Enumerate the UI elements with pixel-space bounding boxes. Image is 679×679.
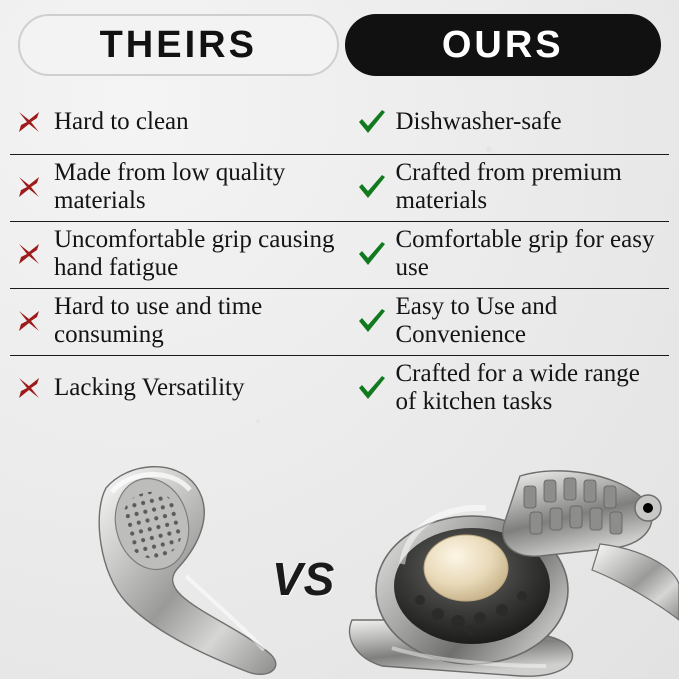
vs-label: VS xyxy=(272,552,335,606)
cell-text: Crafted for a wide range of kitchen task… xyxy=(396,360,666,416)
table-row: Made from low quality materials Crafted … xyxy=(10,155,669,222)
comparison-table: Hard to clean Dishwasher-safe Made xyxy=(10,92,669,422)
table-row: Uncomfortable grip causing hand fatigue … xyxy=(10,222,669,289)
table-row: Hard to use and time consuming Easy to U… xyxy=(10,289,669,356)
header-label-theirs: THEIRS xyxy=(100,24,257,67)
cell-text: Crafted from premium materials xyxy=(396,159,666,215)
cell-ours: Crafted for a wide range of kitchen task… xyxy=(340,356,670,422)
cell-text: Comfortable grip for easy use xyxy=(396,226,666,282)
cell-ours: Crafted from premium materials xyxy=(340,155,670,221)
cell-ours: Comfortable grip for easy use xyxy=(340,222,670,288)
cell-theirs: Hard to use and time consuming xyxy=(10,289,340,355)
cell-theirs: Lacking Versatility xyxy=(10,356,340,422)
our-garlic-press xyxy=(350,471,679,676)
cross-icon xyxy=(16,109,46,135)
table-row: Hard to clean Dishwasher-safe xyxy=(10,92,669,155)
cell-text: Dishwasher-safe xyxy=(396,108,562,136)
cross-icon xyxy=(16,174,46,200)
cell-ours: Easy to Use and Convenience xyxy=(340,289,670,355)
cell-ours: Dishwasher-safe xyxy=(340,92,670,154)
header-pills: THEIRS OURS xyxy=(18,14,661,76)
cross-icon xyxy=(16,308,46,334)
cell-theirs: Hard to clean xyxy=(10,92,340,154)
product-comparison-images xyxy=(0,452,679,679)
check-icon xyxy=(358,241,388,267)
cell-text: Made from low quality materials xyxy=(54,159,336,215)
table-row: Lacking Versatility Crafted for a wide r… xyxy=(10,356,669,422)
header-label-ours: OURS xyxy=(442,24,564,67)
cell-theirs: Uncomfortable grip causing hand fatigue xyxy=(10,222,340,288)
cell-text: Hard to clean xyxy=(54,108,189,136)
cell-text: Uncomfortable grip causing hand fatigue xyxy=(54,226,336,282)
header-pill-ours: OURS xyxy=(345,14,662,76)
check-icon xyxy=(358,308,388,334)
check-icon xyxy=(358,174,388,200)
comparison-infographic: THEIRS OURS Hard to clean xyxy=(0,0,679,679)
cross-icon xyxy=(16,241,46,267)
header-pill-theirs: THEIRS xyxy=(18,14,339,76)
cell-text: Lacking Versatility xyxy=(54,374,244,402)
cell-theirs: Made from low quality materials xyxy=(10,155,340,221)
cell-text: Easy to Use and Convenience xyxy=(396,293,666,349)
check-icon xyxy=(358,109,388,135)
competitor-garlic-press xyxy=(99,467,276,675)
check-icon xyxy=(358,375,388,401)
cross-icon xyxy=(16,375,46,401)
cell-text: Hard to use and time consuming xyxy=(54,293,336,349)
